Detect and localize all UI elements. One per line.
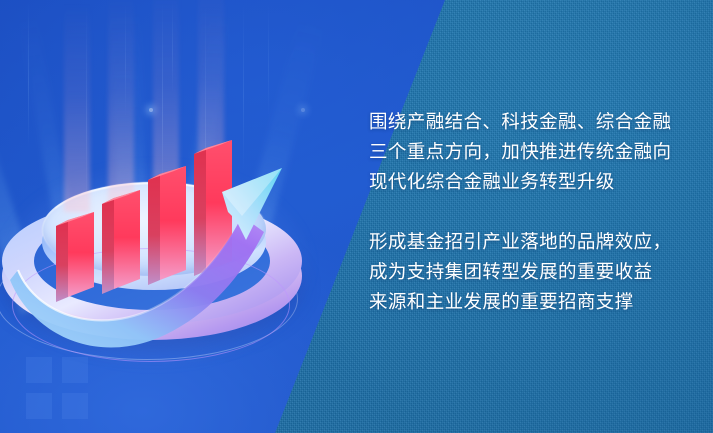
decorative-square (26, 393, 52, 419)
paragraph-2-line-3: 来源和主业发展的重要招商支撑 (369, 287, 689, 317)
arrow-ribbon (10, 216, 264, 348)
paragraph-1-line-3: 现代化综合金融业务转型升级 (369, 167, 689, 197)
banner-root: 围绕产融结合、科技金融、综合金融 三个重点方向，加快推进传统金融向 现代化综合金… (0, 0, 713, 433)
paragraph-1-line-2: 三个重点方向，加快推进传统金融向 (369, 137, 689, 167)
growth-chart-illustration (0, 120, 320, 380)
text-column: 围绕产融结合、科技金融、综合金融 三个重点方向，加快推进传统金融向 现代化综合金… (369, 107, 689, 317)
decorative-square (62, 393, 88, 419)
paragraph-2-line-1: 形成基金招引产业落地的品牌效应， (369, 227, 689, 257)
paragraph-2: 形成基金招引产业落地的品牌效应， 成为支持集团转型发展的重要收益 来源和主业发展… (369, 227, 689, 317)
paragraph-1-line-1: 围绕产融结合、科技金融、综合金融 (369, 107, 689, 137)
upward-growth-arrow-icon (0, 120, 320, 380)
paragraph-2-line-2: 成为支持集团转型发展的重要收益 (369, 257, 689, 287)
paragraph-1: 围绕产融结合、科技金融、综合金融 三个重点方向，加快推进传统金融向 现代化综合金… (369, 107, 689, 197)
